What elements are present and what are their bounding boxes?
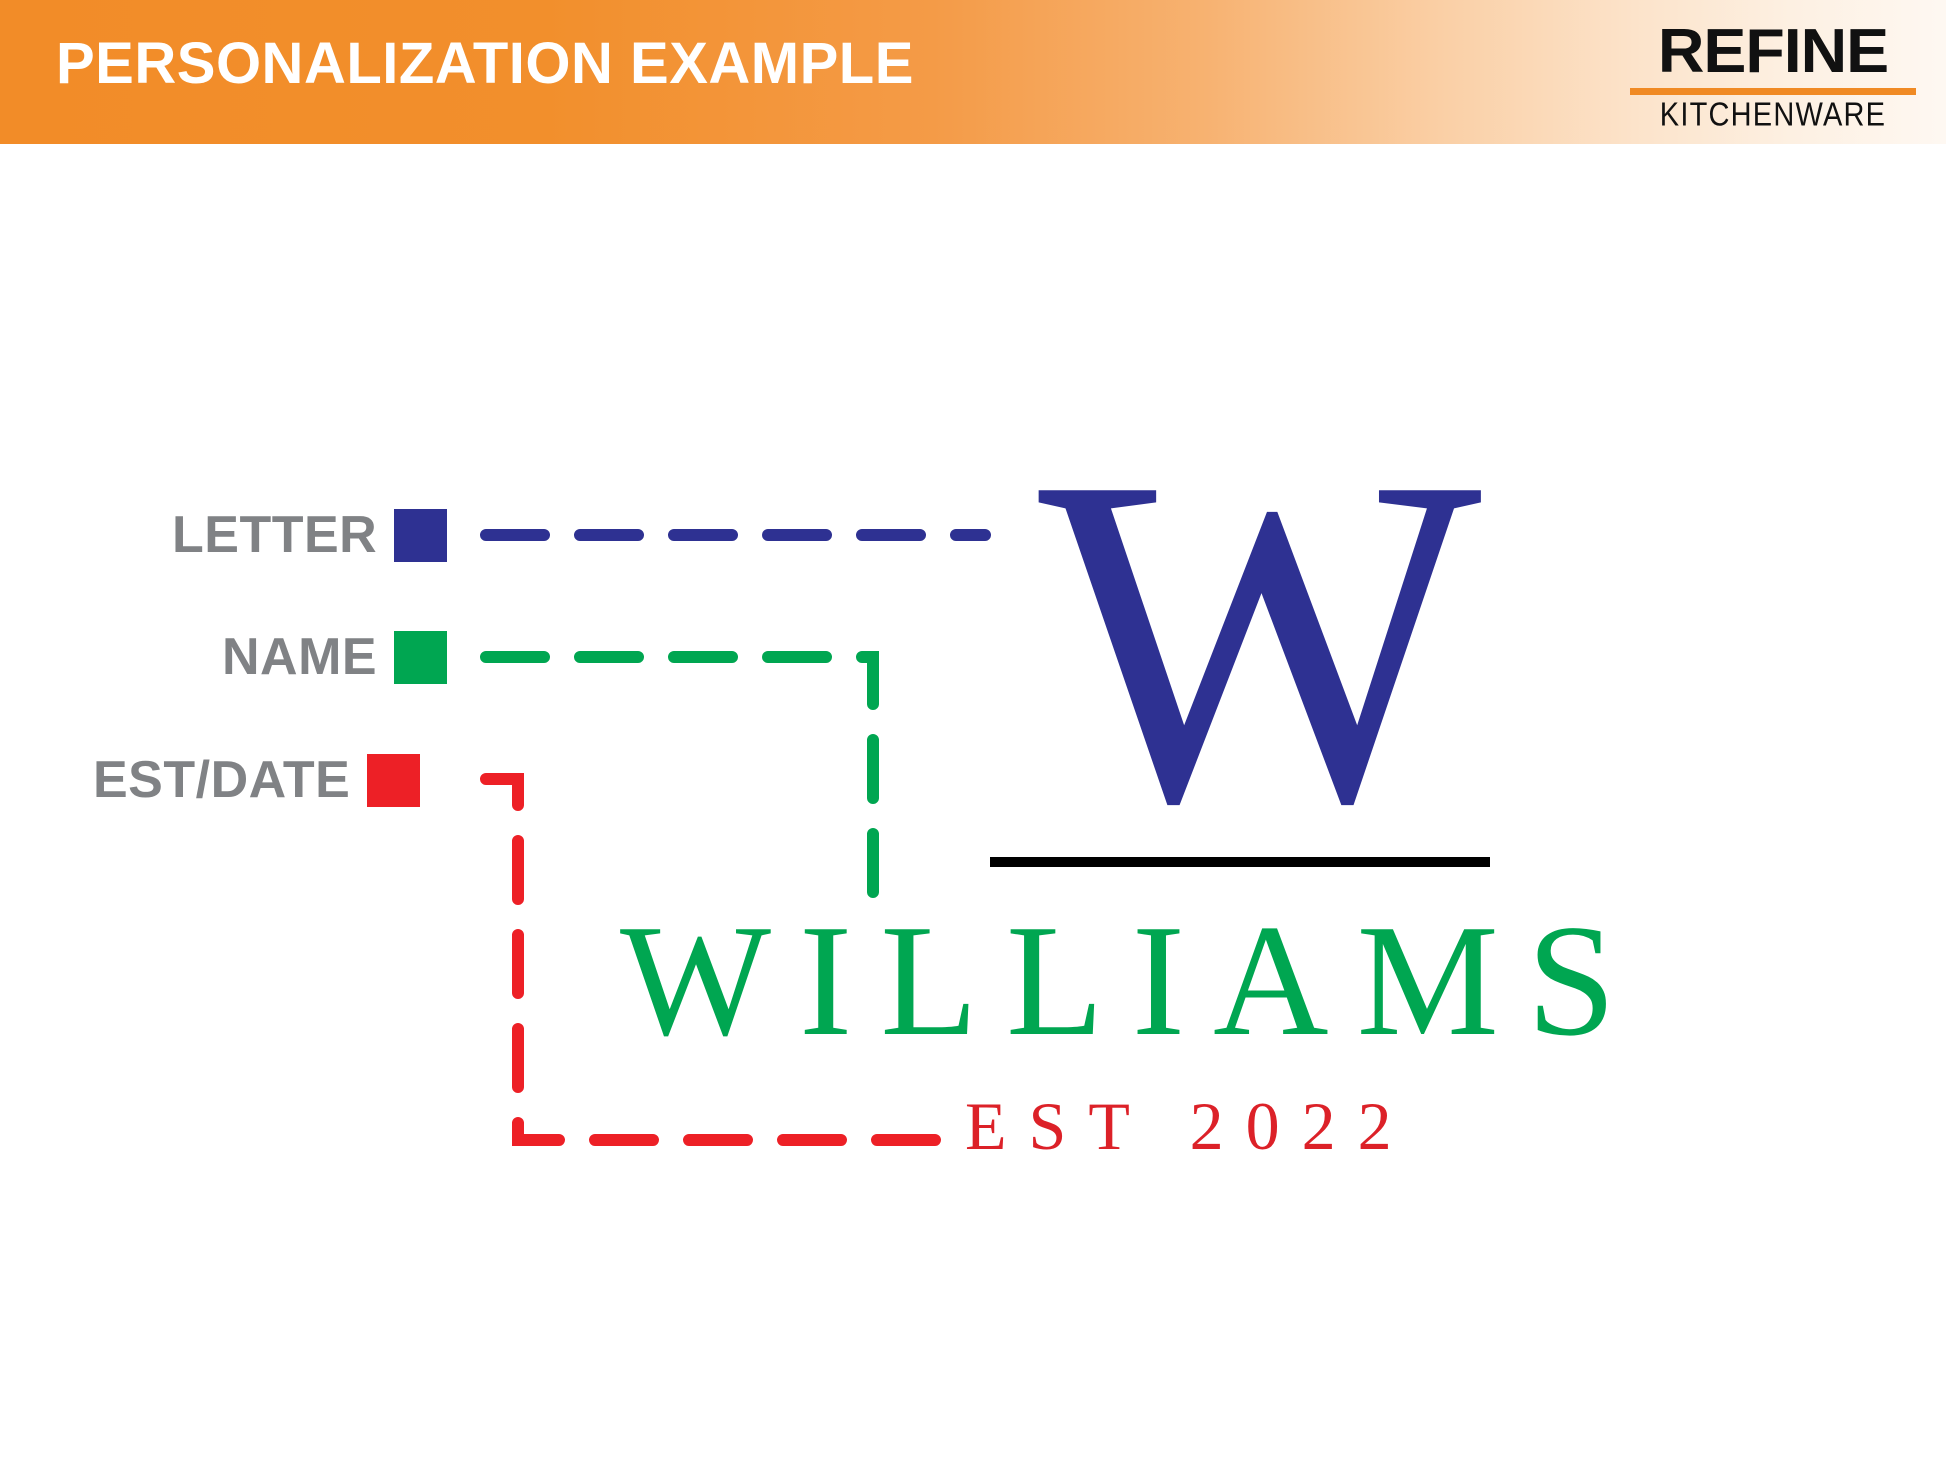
monogram-letter: W xyxy=(960,405,1560,875)
monogram-divider-rule xyxy=(990,857,1490,867)
legend-swatch-letter xyxy=(394,509,447,562)
brand-rule-divider xyxy=(1630,88,1916,95)
legend-label-letter: LETTER xyxy=(172,505,377,565)
brand-tagline: KITCHENWARE xyxy=(1630,96,1916,134)
monogram-artwork: W xyxy=(960,405,1560,905)
personalization-example-slide: PERSONALIZATION EXAMPLE REFINE KITCHENWA… xyxy=(0,0,1946,1460)
surname-text: WILLIAMS xyxy=(620,900,1880,1060)
legend-swatch-name xyxy=(394,631,447,684)
legend-item-est-date: EST/DATE xyxy=(93,750,420,810)
brand-logo: REFINE KITCHENWARE xyxy=(1630,22,1916,132)
legend-item-name: NAME xyxy=(222,627,447,687)
legend-item-letter: LETTER xyxy=(172,505,447,565)
legend-label-name: NAME xyxy=(222,627,377,687)
name-connector-line xyxy=(486,657,873,905)
established-text: EST 2022 xyxy=(965,1092,1414,1160)
brand-name: REFINE xyxy=(1624,22,1921,83)
legend-swatch-est-date xyxy=(367,754,420,807)
page-title: PERSONALIZATION EXAMPLE xyxy=(56,30,914,97)
legend-label-est-date: EST/DATE xyxy=(93,750,350,810)
